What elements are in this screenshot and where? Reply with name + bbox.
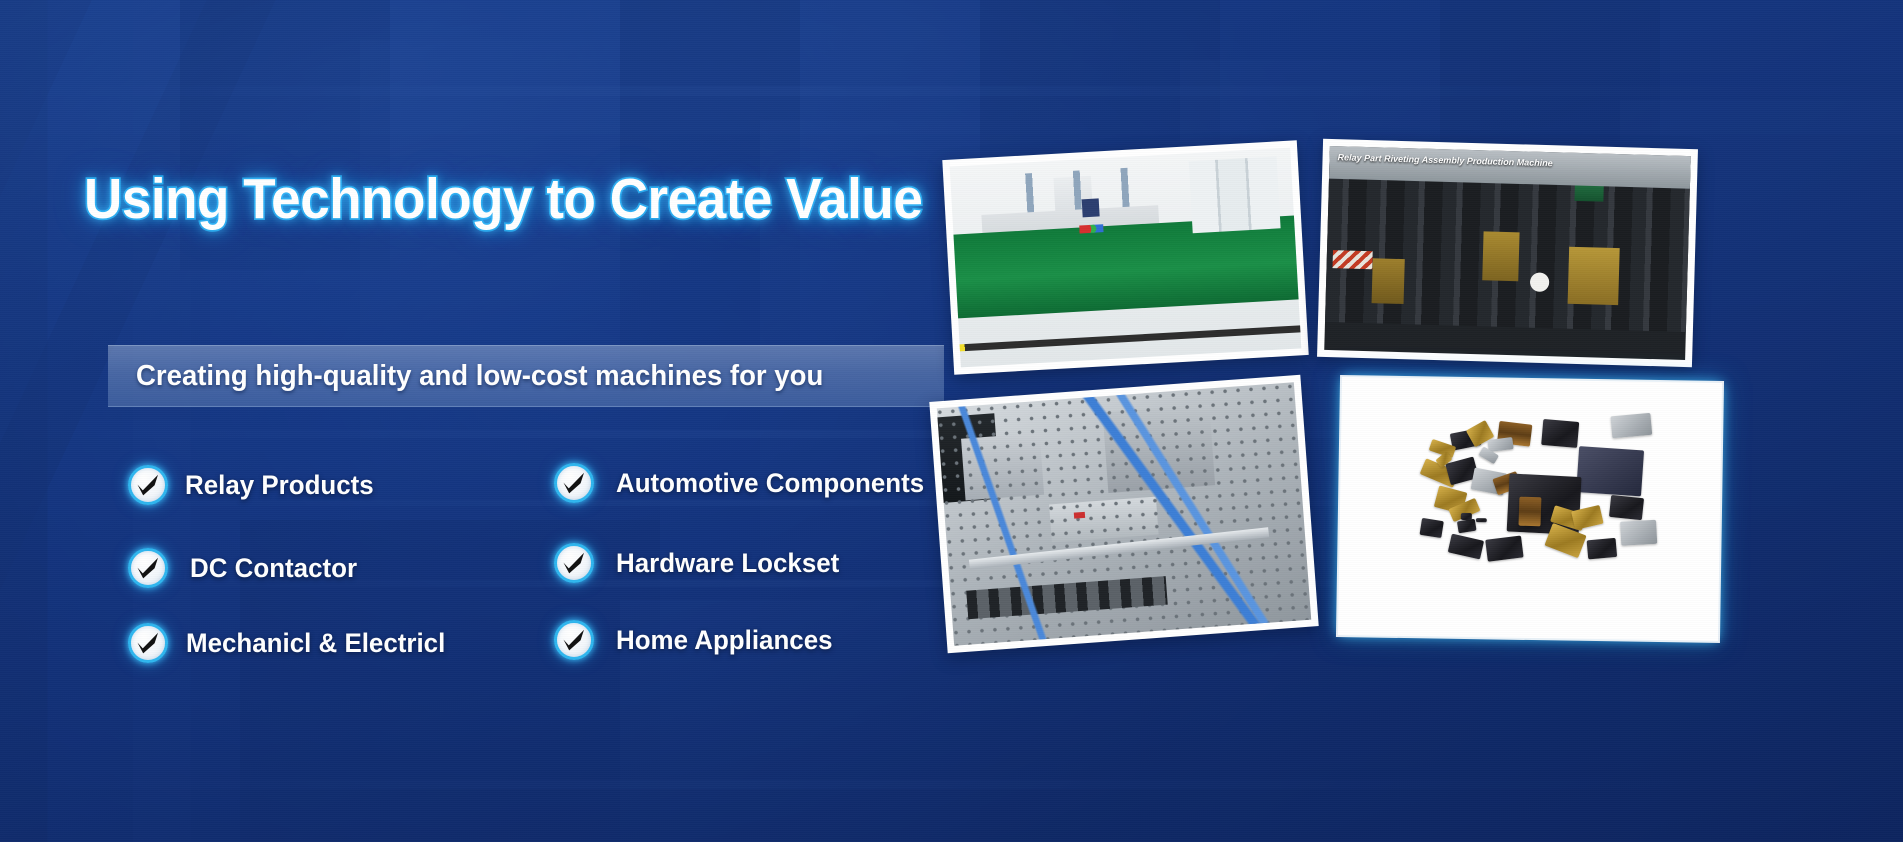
- list-item-dc-contactor[interactable]: DC Contactor: [128, 548, 364, 588]
- list-item-home-appliances[interactable]: Home Appliances: [554, 620, 842, 660]
- relay-component: [1475, 518, 1486, 523]
- relay-components-photo[interactable]: [1338, 377, 1722, 641]
- relay-component: [1461, 513, 1472, 520]
- check-circle-icon: [128, 465, 168, 505]
- check-circle-icon: [128, 548, 168, 588]
- photo-collage: Relay Part Riveting Assembly Production …: [900, 140, 1903, 710]
- precision-machine-photo[interactable]: [929, 375, 1318, 654]
- relay-component: [1610, 413, 1652, 438]
- relay-component: [1541, 419, 1579, 448]
- promo-banner: Using Technology to Create Value Creatin…: [0, 0, 1903, 842]
- relay-component: [1576, 446, 1644, 496]
- list-item-label: Mechanicl & Electricl: [186, 628, 445, 659]
- list-item-mechanicl-electricl[interactable]: Mechanicl & Electricl: [128, 623, 456, 663]
- list-item-automotive-components[interactable]: Automotive Components: [554, 463, 937, 503]
- list-item-label: Automotive Components: [616, 468, 924, 499]
- relay-component: [1609, 494, 1644, 519]
- list-item-label: Hardware Lockset: [616, 548, 839, 579]
- check-circle-icon: [128, 623, 168, 663]
- relay-component: [1586, 538, 1617, 560]
- relay-component: [1420, 518, 1444, 538]
- list-item-label: DC Contactor: [190, 553, 357, 584]
- relay-component: [1620, 519, 1657, 545]
- list-item-label: Home Appliances: [616, 625, 833, 656]
- check-circle-icon: [554, 620, 594, 660]
- relay-component: [1448, 533, 1484, 559]
- subtitle-bar: Creating high-quality and low-cost machi…: [108, 345, 944, 407]
- photo-caption: Relay Part Riveting Assembly Production …: [1337, 152, 1552, 168]
- relay-component: [1485, 535, 1524, 561]
- riveting-machine-photo[interactable]: Relay Part Riveting Assembly Production …: [1317, 139, 1698, 367]
- list-item-hardware-lockset[interactable]: Hardware Lockset: [554, 543, 849, 583]
- page-title: Using Technology to Create Value: [84, 166, 922, 232]
- list-item-relay-products[interactable]: Relay Products: [128, 465, 382, 505]
- check-circle-icon: [554, 463, 594, 503]
- check-circle-icon: [554, 543, 594, 583]
- relay-component: [1519, 497, 1542, 527]
- subtitle-text: Creating high-quality and low-cost machi…: [136, 360, 823, 393]
- list-item-label: Relay Products: [185, 470, 374, 501]
- text-column: Using Technology to Create Value Creatin…: [0, 0, 1000, 842]
- relay-component: [1456, 519, 1476, 534]
- relay-assembly-line-photo[interactable]: [942, 140, 1308, 374]
